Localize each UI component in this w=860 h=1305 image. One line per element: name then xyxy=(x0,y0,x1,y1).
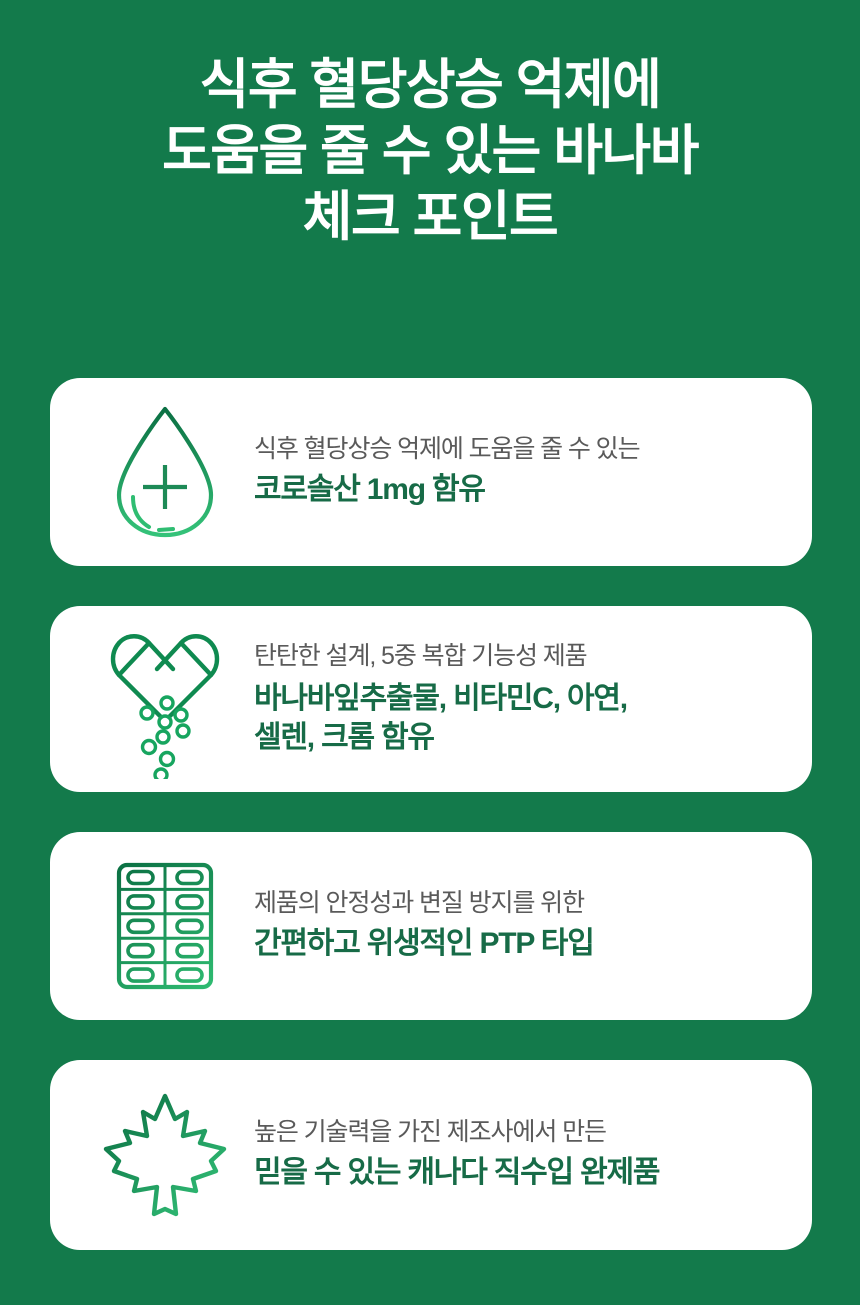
maple-leaf-icon xyxy=(80,1091,250,1219)
card-text-block: 제품의 안정성과 변질 방지를 위한 간편하고 위생적인 PTP 타입 xyxy=(250,888,778,964)
card-text-block: 높은 기술력을 가진 제조사에서 만든 믿을 수 있는 캐나다 직수입 완제품 xyxy=(250,1117,778,1193)
card-highlight-line-1: 믿을 수 있는 캐나다 직수입 완제품 xyxy=(254,1154,778,1192)
page-title: 식후 혈당상승 억제에 도움을 줄 수 있는 바나바 체크 포인트 xyxy=(0,0,860,244)
card-highlight-line-1: 바나바잎추출물, 비타민C, 아연, xyxy=(254,679,778,718)
card-ingredients: 탄탄한 설계, 5중 복합 기능성 제품 바나바잎추출물, 비타민C, 아연, … xyxy=(50,606,812,792)
card-ptp-type: 제품의 안정성과 변질 방지를 위한 간편하고 위생적인 PTP 타입 xyxy=(50,832,812,1020)
check-point-card-list: 식후 혈당상승 억제에 도움을 줄 수 있는 코로솔산 1mg 함유 xyxy=(50,378,812,1250)
title-line-2: 도움을 줄 수 있는 바나바 xyxy=(0,124,860,178)
card-canada-import: 높은 기술력을 가진 제조사에서 만든 믿을 수 있는 캐나다 직수입 완제품 xyxy=(50,1060,812,1250)
card-subtitle: 높은 기술력을 가진 제조사에서 만든 xyxy=(254,1117,778,1148)
card-highlight-line-2: 셀렌, 크롬 함유 xyxy=(254,718,778,757)
card-corosolic-acid: 식후 혈당상승 억제에 도움을 줄 수 있는 코로솔산 1mg 함유 xyxy=(50,378,812,566)
ptp-blister-pack-icon xyxy=(80,862,250,990)
title-line-1: 식후 혈당상승 억제에 xyxy=(0,58,860,112)
card-subtitle: 탄탄한 설계, 5중 복합 기능성 제품 xyxy=(254,641,778,672)
card-highlight-line-1: 간편하고 위생적인 PTP 타입 xyxy=(254,925,778,963)
card-subtitle: 식후 혈당상승 억제에 도움을 줄 수 있는 xyxy=(254,434,778,465)
infographic-page: 식후 혈당상승 억제에 도움을 줄 수 있는 바나바 체크 포인트 xyxy=(0,0,860,1305)
card-subtitle: 제품의 안정성과 변질 방지를 위한 xyxy=(254,888,778,919)
open-capsule-granules-icon xyxy=(80,619,250,779)
title-line-3: 체크 포인트 xyxy=(0,190,860,244)
card-highlight-line-1: 코로솔산 1mg 함유 xyxy=(254,471,778,509)
card-text-block: 탄탄한 설계, 5중 복합 기능성 제품 바나바잎추출물, 비타민C, 아연, … xyxy=(250,641,778,756)
water-droplet-plus-icon xyxy=(80,403,250,541)
card-text-block: 식후 혈당상승 억제에 도움을 줄 수 있는 코로솔산 1mg 함유 xyxy=(250,434,778,510)
